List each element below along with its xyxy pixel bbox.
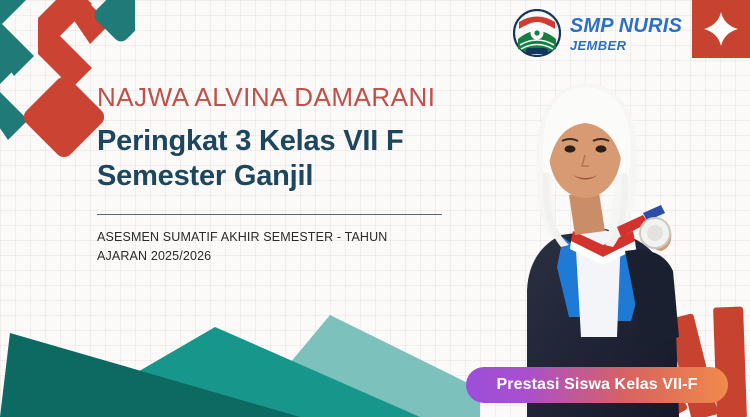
rank-title: Peringkat 3 Kelas VII F Semester Ganjil <box>97 124 517 194</box>
divider <box>97 214 442 215</box>
mountain-shapes-icon <box>0 307 480 417</box>
exam-info: ASESMEN SUMATIF AKHIR SEMESTER - TAHUN A… <box>97 228 432 267</box>
rank-title-line2: Semester Ganjil <box>97 159 517 194</box>
school-name-line1: SMP NURIS <box>570 16 682 36</box>
school-name-line2: JEMBER <box>570 39 682 52</box>
school-logo-block: SMP NURIS JEMBER <box>513 0 750 58</box>
school-crest-icon <box>513 9 561 57</box>
star-tile <box>692 0 750 58</box>
text-block: NAJWA ALVINA DAMARANI Peringkat 3 Kelas … <box>97 82 517 267</box>
caption-text: Prestasi Siswa Kelas VII-F <box>497 376 698 394</box>
caption-pill: Prestasi Siswa Kelas VII-F <box>466 367 728 403</box>
achievement-poster: NAJWA ALVINA DAMARANI Peringkat 3 Kelas … <box>0 0 750 417</box>
rank-title-line1: Peringkat 3 Kelas VII F <box>97 124 517 159</box>
four-point-star-icon <box>703 11 739 47</box>
student-name: NAJWA ALVINA DAMARANI <box>97 82 517 112</box>
school-name: SMP NURIS JEMBER <box>570 14 682 52</box>
